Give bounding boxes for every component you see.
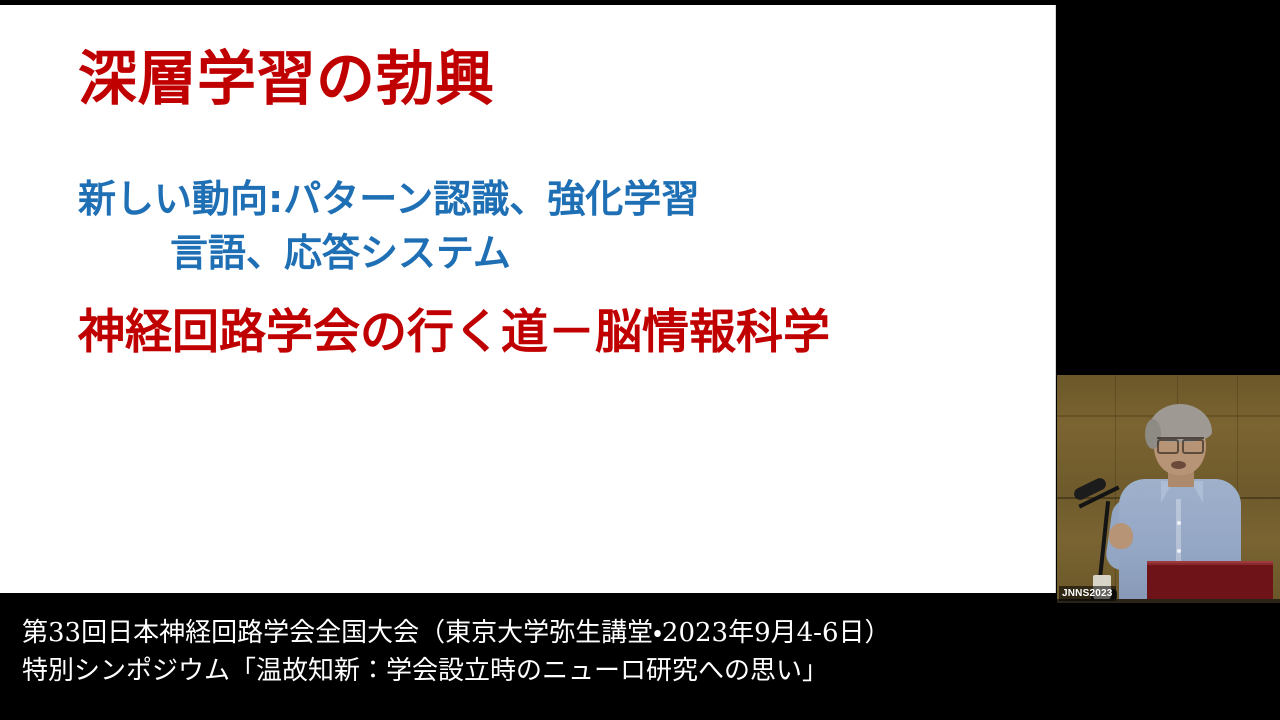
speaker-mouth — [1171, 461, 1186, 469]
speaker-video-thumbnail[interactable]: JNNS2023 — [1057, 375, 1280, 603]
slide-subtitle-line-1: 新しい動向:パターン認識、強化学習 — [78, 177, 699, 221]
presentation-recording-frame: 深層学習の勃興 新しい動向:パターン認識、強化学習 言語、応答システム 神経回路… — [0, 0, 1280, 720]
slide-heading-secondary: 神経回路学会の行く道－脳情報科学 — [78, 307, 830, 359]
speaker-shirt-button-1 — [1177, 521, 1181, 525]
laptop-icon — [1147, 563, 1273, 603]
speaker-hand — [1109, 523, 1133, 549]
presentation-slide: 深層学習の勃興 新しい動向:パターン認識、強化学習 言語、応答システム 神経回路… — [0, 5, 1056, 593]
caption-line-2: 特別シンポジウム「温故知新：学会設立時のニューロ研究への思い」 — [22, 657, 828, 687]
caption-line-1: 第33回日本神経回路学会全国大会（東京大学弥生講堂・2023年9月4-6日） — [22, 619, 891, 649]
speaker-glasses-icon — [1157, 437, 1204, 450]
slide-subtitle-block: 新しい動向:パターン認識、強化学習 言語、応答システム — [78, 173, 699, 281]
speaker-shirt-button-2 — [1177, 549, 1181, 553]
video-watermark: JNNS2023 — [1059, 586, 1116, 601]
caption-bar: 第33回日本神経回路学会全国大会（東京大学弥生講堂・2023年9月4-6日） 特… — [0, 605, 1280, 720]
slide-subtitle-line-2: 言語、応答システム — [78, 227, 699, 281]
slide-title: 深層学習の勃興 — [78, 47, 495, 111]
